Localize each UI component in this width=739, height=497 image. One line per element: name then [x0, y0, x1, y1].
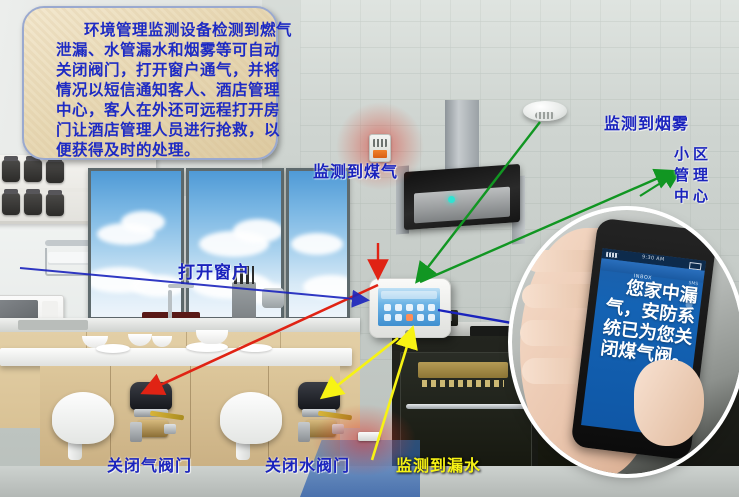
valve-bracket	[130, 422, 142, 442]
label-community-center: 小 区 管 理 中 心	[674, 144, 709, 207]
description-text: 环境管理监测设备检测到燃气泄漏、水管漏水和烟雾等可自动关闭阀门，打开窗户通气，并…	[56, 20, 292, 160]
plate	[238, 344, 272, 352]
jar	[24, 160, 42, 182]
smoke-detector-vent	[535, 112, 555, 119]
island-countertop	[0, 348, 352, 366]
oven-control-panel	[418, 362, 508, 378]
signal-icon	[606, 252, 619, 258]
phone-clock: 9:30 AM	[642, 254, 665, 263]
description-callout: 环境管理监测设备检测到燃气泄漏、水管漏水和烟雾等可自动关闭阀门，打开窗户通气，并…	[22, 6, 278, 160]
bar-stool	[52, 392, 114, 444]
valve-bracket	[298, 422, 310, 442]
range-hood-led	[448, 196, 455, 203]
kettle	[262, 288, 284, 308]
control-panel-home-button[interactable]	[405, 330, 411, 335]
control-panel-screen[interactable]	[378, 288, 440, 326]
label-open-window: 打开窗户	[178, 258, 250, 283]
valve-handle	[150, 411, 184, 421]
sms-message-text: 您家中漏气，安防系统已为您关闭煤气阀。	[593, 275, 699, 370]
community-char: 管	[674, 165, 690, 186]
community-char: 小	[674, 144, 690, 165]
valve-motor	[130, 382, 172, 410]
jar	[2, 193, 20, 215]
community-char: 理	[693, 165, 709, 186]
community-char: 中	[674, 186, 690, 207]
label-smoke-detected: 监测到烟雾	[604, 110, 689, 134]
window-right	[286, 168, 350, 320]
jar	[46, 161, 64, 183]
community-char: 区	[693, 144, 709, 165]
label-close-water-valve: 关闭水阀门	[265, 452, 350, 476]
label-gas-detected: 监测到煤气	[313, 158, 398, 182]
scene-root: 9:30 AM INBOX SMS 您家中漏气，安防系统已为您关闭煤气阀。 环境…	[0, 0, 739, 497]
sink	[18, 320, 88, 330]
thumb	[634, 360, 704, 446]
phone-inset: 9:30 AM INBOX SMS 您家中漏气，安防系统已为您关闭煤气阀。	[512, 210, 739, 474]
water-leak-sensor-icon	[358, 432, 380, 441]
oven-handle	[406, 404, 526, 409]
label-close-gas-valve: 关闭气阀门	[107, 452, 192, 476]
label-leak-detected: 监测到漏水	[396, 452, 481, 476]
valve-motor	[298, 382, 340, 410]
jar	[24, 193, 42, 215]
bar-stool	[220, 392, 282, 444]
valve-port	[164, 424, 176, 434]
sky-view	[289, 171, 347, 317]
range-hood-duct	[445, 100, 479, 172]
faucet	[168, 290, 172, 320]
jar	[46, 194, 64, 216]
community-char: 心	[693, 186, 709, 207]
phone-inset-photo: 9:30 AM INBOX SMS 您家中漏气，安防系统已为您关闭煤气阀。	[512, 210, 739, 474]
jar	[2, 160, 20, 182]
gas-valve-actuator	[124, 382, 186, 444]
plate	[96, 344, 130, 353]
knife-block	[232, 282, 256, 320]
